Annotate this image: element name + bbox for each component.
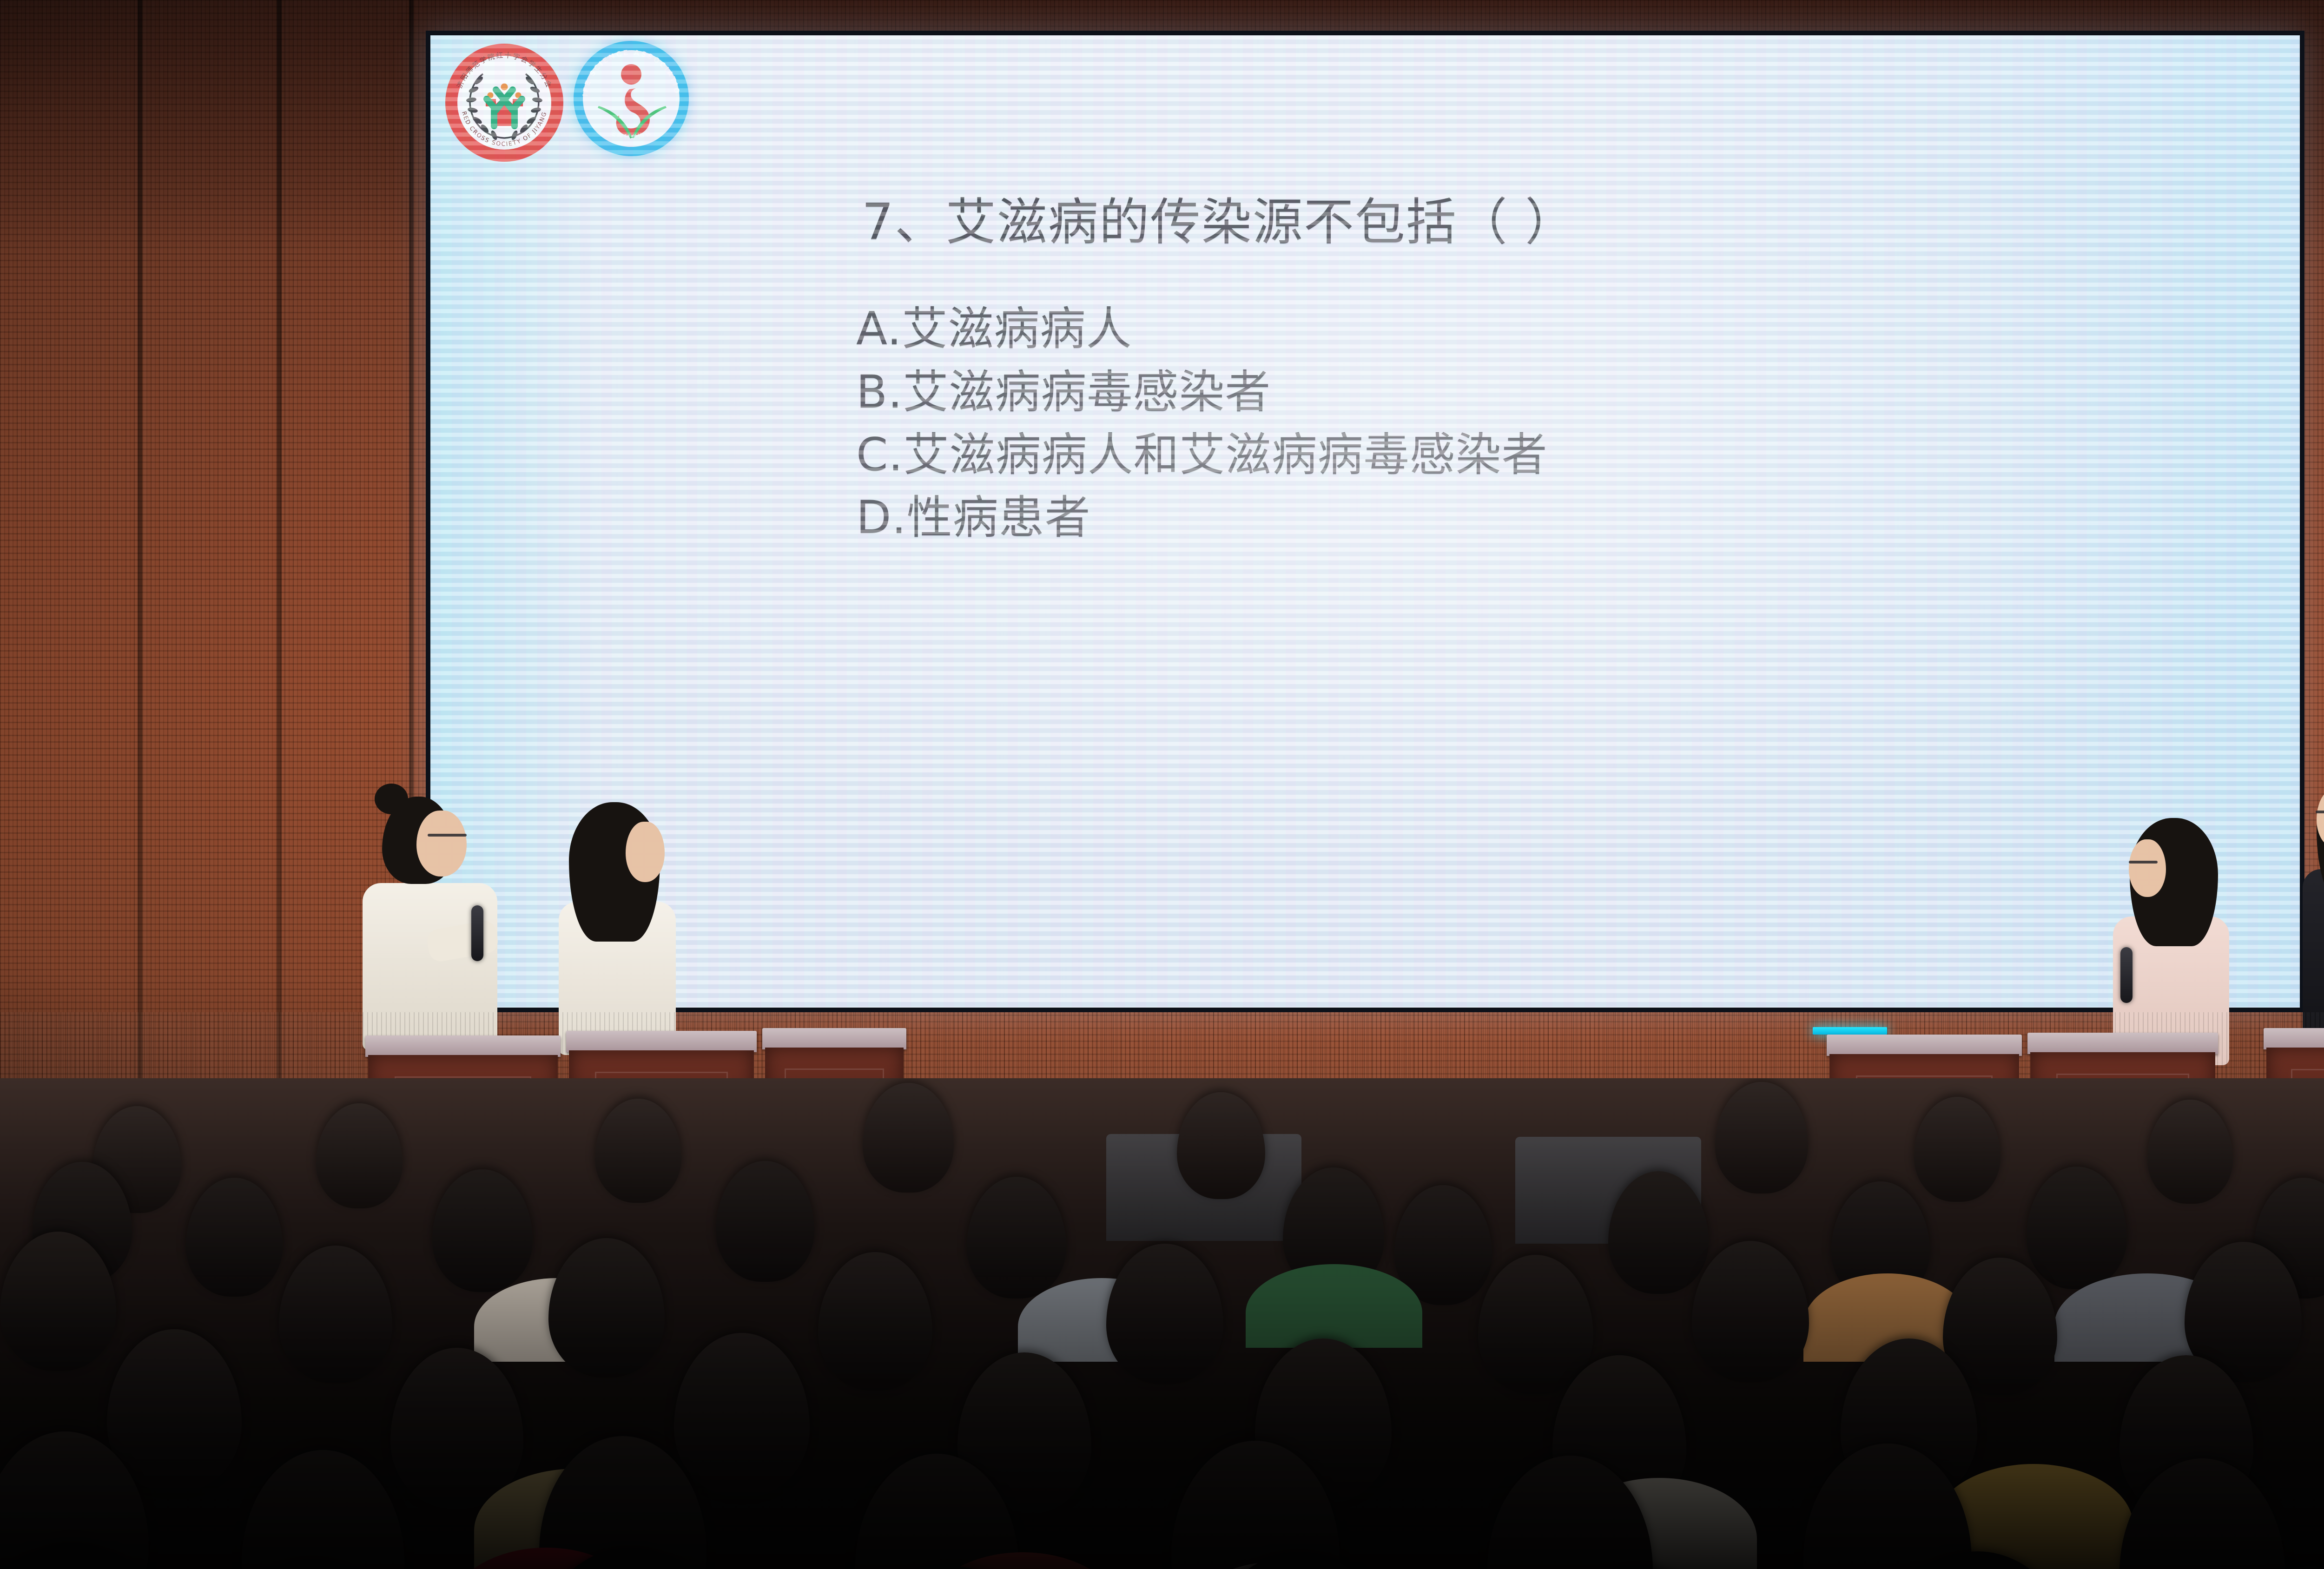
podium-far-right-top: [2264, 1028, 2324, 1049]
presenter-left-1-glasses: [428, 834, 467, 837]
red-cross-society-emblem: 济阳师范学院红十字会学生分会 RED CROSS SOCIETY OF JIYA…: [445, 44, 563, 162]
podium-monitor-screen[interactable]: [1813, 1027, 1887, 1035]
slide-question: 7、艾滋病的传染源不包括（ ）: [862, 193, 2300, 251]
presenter-right-1-face: [2129, 839, 2166, 897]
audience-shadow-overlay: [0, 1078, 2324, 1569]
svg-text:济阳师范学院红十字会学生分会: 济阳师范学院红十字会学生分会: [455, 51, 553, 90]
presenter-right-2-glasses: [2316, 811, 2324, 813]
slide-options: A.艾滋病病人 B.艾滋病病毒感染者 C.艾滋病病人和艾滋病病毒感染者 D.性病…: [856, 298, 2300, 549]
podium-far-left-top: [365, 1035, 561, 1057]
red-cross-ring-text: 济阳师范学院红十字会学生分会 RED CROSS SOCIETY OF JIYA…: [445, 44, 563, 162]
projection-screen-frame: 济阳师范学院红十字会学生分会 RED CROSS SOCIETY OF JIYA…: [426, 31, 2304, 1012]
presenter-right-1-glasses: [2129, 861, 2158, 864]
slide-option-d: D.性病患者: [856, 487, 2300, 549]
presenter-right-1-microphone: [2120, 947, 2133, 1003]
podium-right-1-top: [1827, 1035, 2022, 1056]
projection-screen: 济阳师范学院红十字会学生分会 RED CROSS SOCIETY OF JIYA…: [430, 35, 2300, 1008]
slide-body: 7、艾滋病的传染源不包括（ ） A.艾滋病病人 B.艾滋病病毒感染者 C.艾滋病…: [430, 193, 2300, 549]
svg-text:RED CROSS SOCIETY OF JIYANG: RED CROSS SOCIETY OF JIYANG: [461, 111, 548, 147]
life-science-ring-text: LIFE SCIENCE ASSOCIATION 生命科学协会: [574, 41, 689, 156]
presenter-left-1-microphone: [471, 905, 483, 961]
slide-option-c: C.艾滋病病人和艾滋病病毒感染者: [856, 424, 2300, 487]
presenter-left-1: [358, 785, 511, 1046]
svg-text:生命科学协会: 生命科学协会: [609, 129, 653, 142]
svg-text:LIFE SCIENCE ASSOCIATION: LIFE SCIENCE ASSOCIATION: [574, 41, 681, 97]
podium-left-1-top: [566, 1031, 757, 1052]
slide-logo-row: 济阳师范学院红十字会学生分会 RED CROSS SOCIETY OF JIYA…: [445, 35, 689, 162]
life-science-association-emblem: LIFE SCIENCE ASSOCIATION 生命科学协会: [574, 41, 689, 156]
slide-option-a: A.艾滋病病人: [856, 298, 2300, 361]
slide-option-b: B.艾滋病病毒感染者: [856, 361, 2300, 424]
presenter-right-2: [2296, 767, 2324, 1046]
presenter-left-2: [552, 799, 692, 1046]
presenter-left-2-face: [626, 822, 665, 882]
podium-left-2-top: [762, 1028, 906, 1049]
presenter-left-1-face: [416, 811, 467, 877]
audience-area: [0, 1078, 2324, 1569]
podium-right-2-top: [2027, 1033, 2218, 1054]
auditorium-scene: 济阳师范学院红十字会学生分会 RED CROSS SOCIETY OF JIYA…: [0, 0, 2324, 1569]
